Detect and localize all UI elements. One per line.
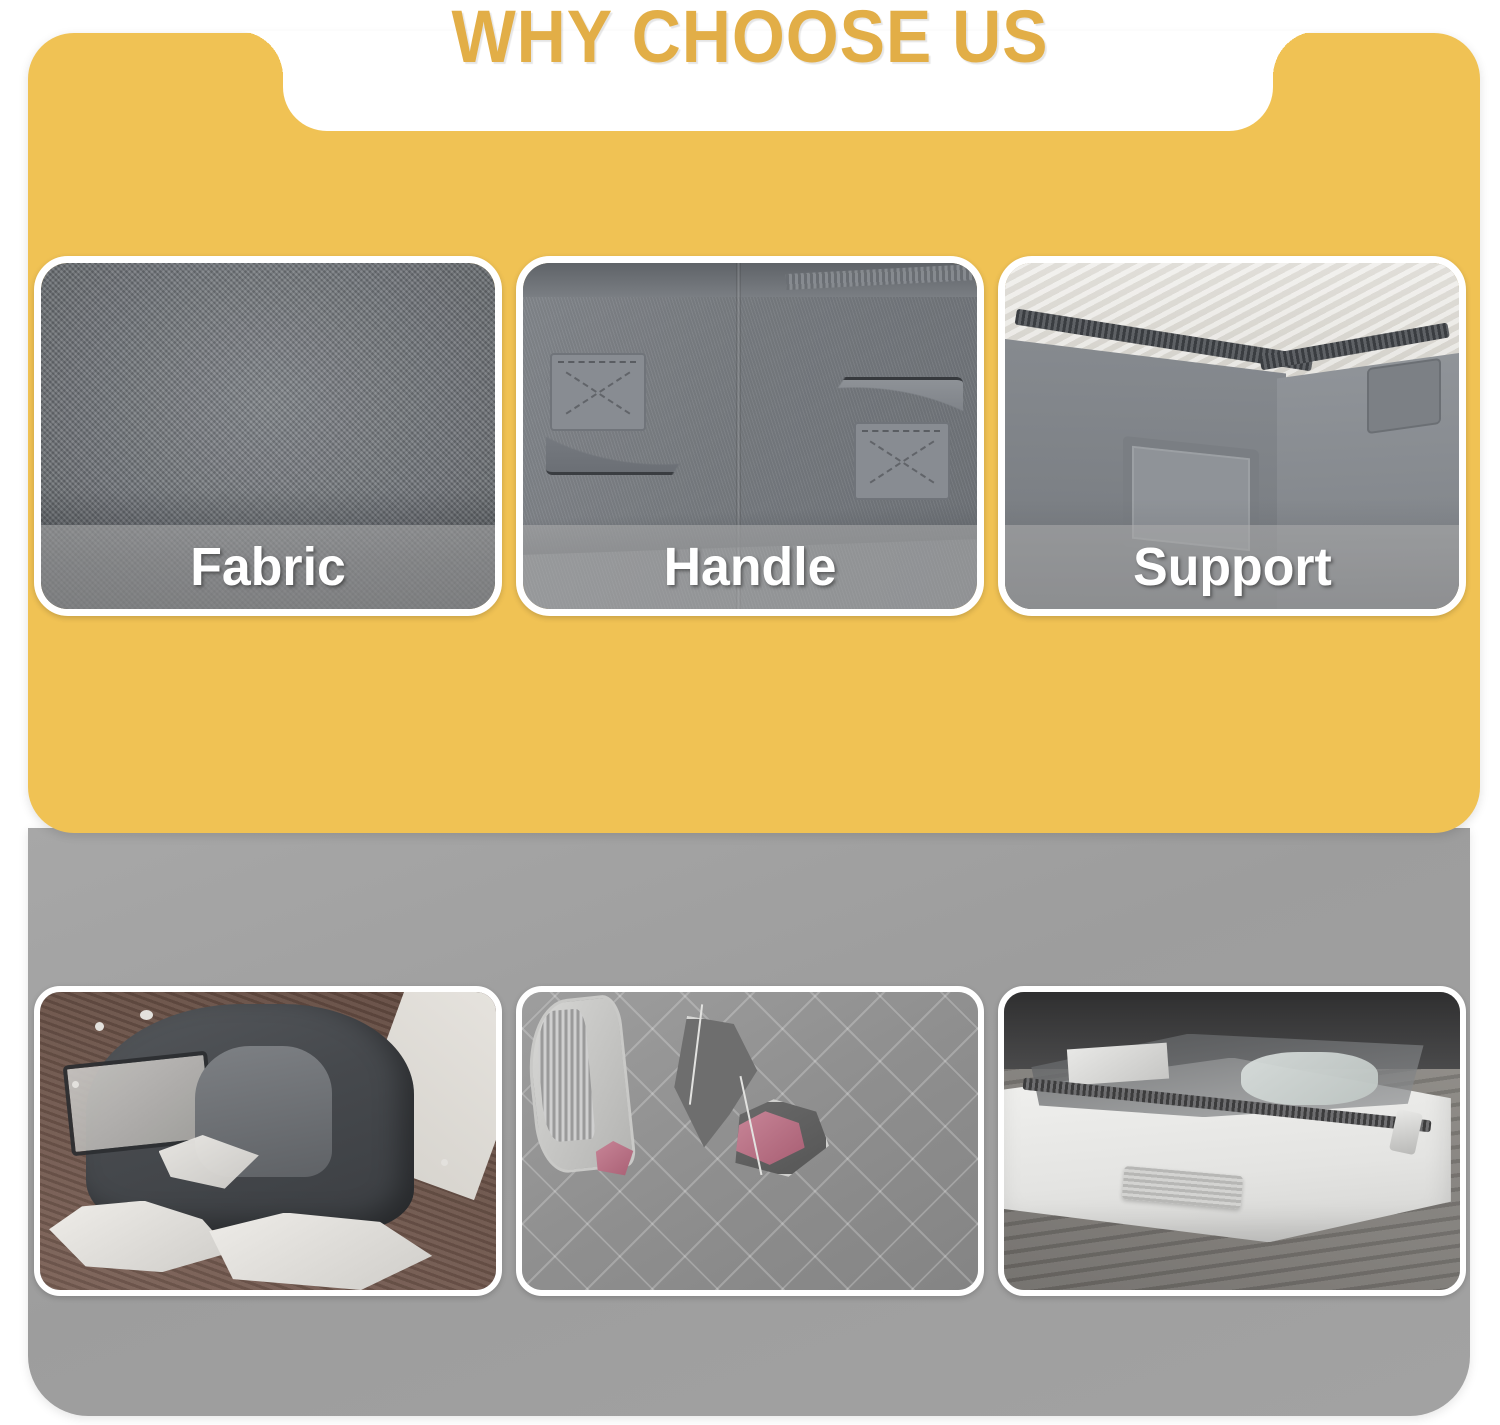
broken-bag-image bbox=[34, 986, 502, 1296]
wood-floor bbox=[40, 992, 496, 1290]
contents-fabric bbox=[1241, 1052, 1378, 1106]
debris-crumb bbox=[95, 1022, 104, 1031]
other-product-card-2[interactable] bbox=[516, 986, 984, 1296]
our-product-card-handle[interactable]: Handle bbox=[516, 256, 984, 616]
wood-floor bbox=[1004, 992, 1460, 1290]
stitch-cross-icon bbox=[560, 363, 636, 421]
support-label-band: Support bbox=[1005, 525, 1459, 609]
handle-image: Handle bbox=[516, 256, 984, 616]
other-product-card-1[interactable] bbox=[34, 986, 502, 1296]
support-label: Support bbox=[1133, 536, 1332, 598]
support-image: Support bbox=[998, 256, 1466, 616]
handle-label-band: Handle bbox=[523, 525, 977, 609]
floppy-bag-image bbox=[998, 986, 1466, 1296]
other-product-card-row bbox=[0, 986, 1500, 1296]
page-title: WHY CHOOSE US bbox=[60, 0, 1440, 79]
our-product-card-row: Fabric Handle bbox=[0, 256, 1500, 616]
our-product-card-support[interactable]: Support bbox=[998, 256, 1466, 616]
other-product-card-3[interactable] bbox=[998, 986, 1466, 1296]
torn-fabric-image bbox=[516, 986, 984, 1296]
quilted-gray-fabric bbox=[522, 992, 978, 1290]
box-side-handle bbox=[1367, 358, 1441, 434]
fabric-image: Fabric bbox=[34, 256, 502, 616]
fabric-label-band: Fabric bbox=[41, 525, 495, 609]
handle-stitch-tab-right bbox=[854, 422, 950, 500]
stitch-cross-icon bbox=[864, 432, 940, 490]
our-product-card-fabric[interactable]: Fabric bbox=[34, 256, 502, 616]
debris-crumb bbox=[140, 1010, 153, 1020]
fabric-label: Fabric bbox=[190, 536, 346, 598]
contents-box bbox=[1067, 1042, 1170, 1085]
handle-stitch-tab-left bbox=[550, 353, 646, 431]
handle-label: Handle bbox=[664, 536, 837, 598]
